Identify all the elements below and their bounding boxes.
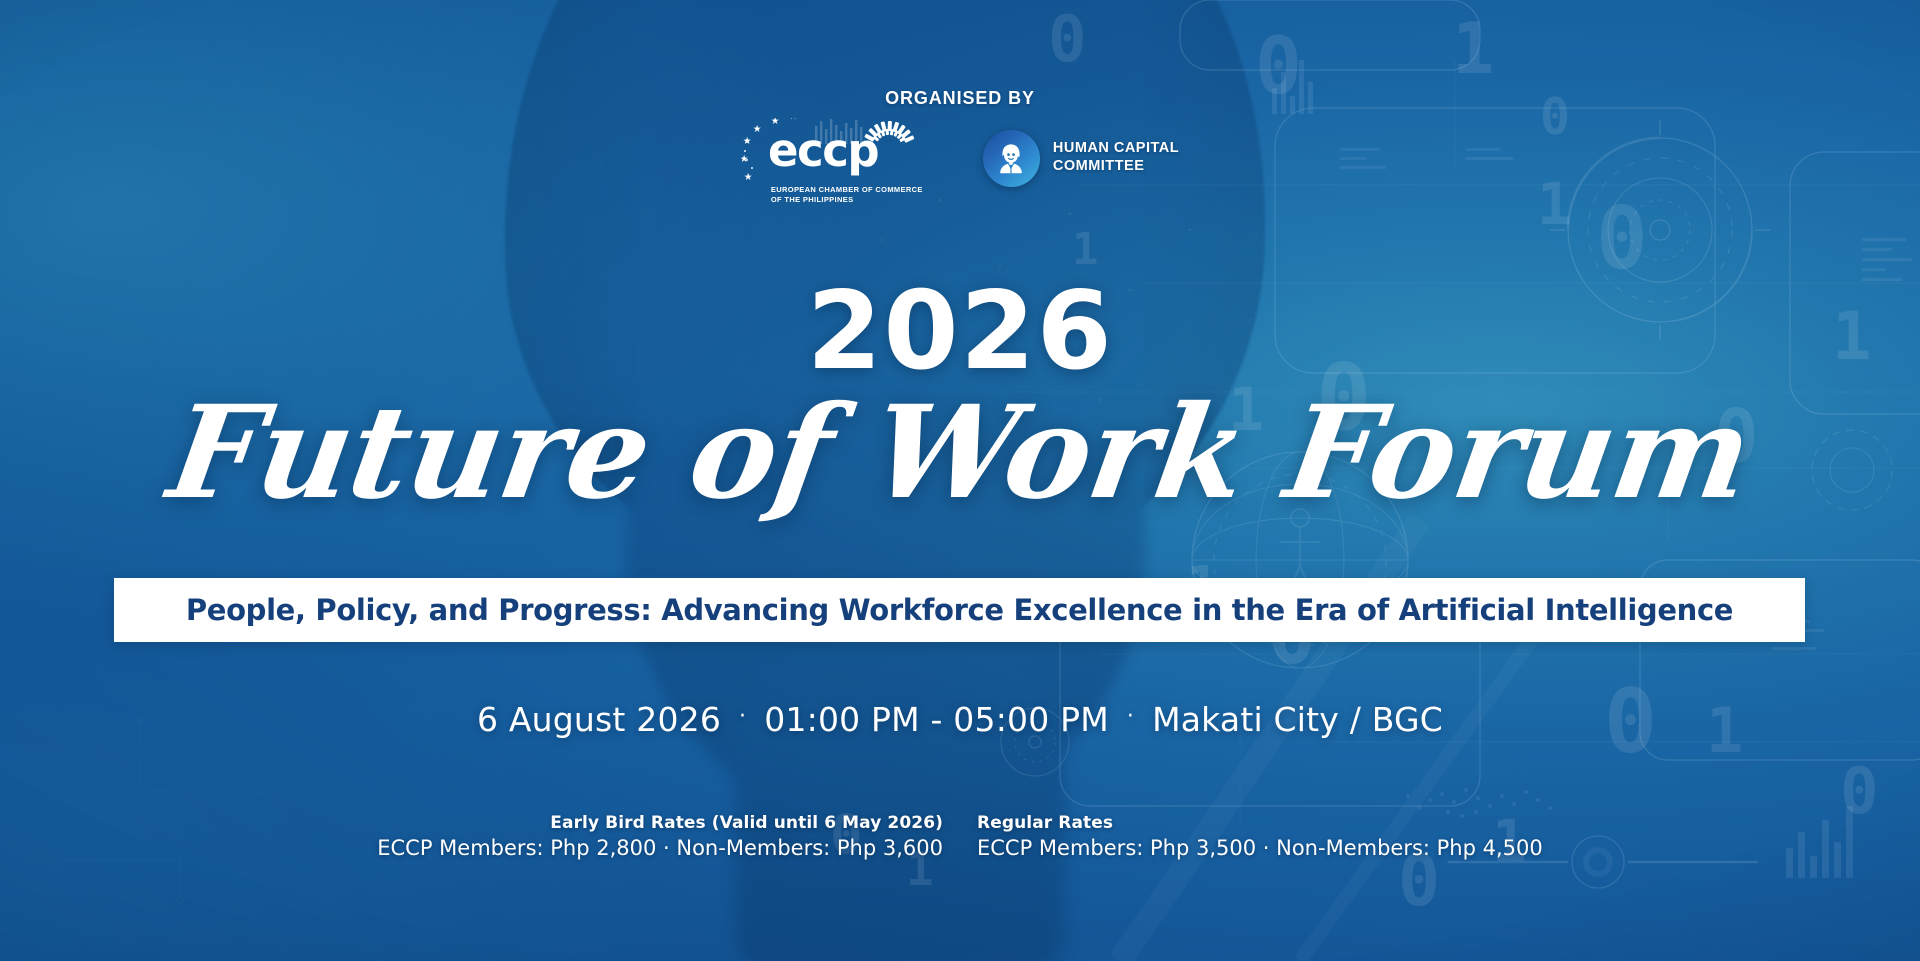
event-rates: Early Bird Rates (Valid until 6 May 2026… xyxy=(0,812,1920,862)
hcc-line2: COMMITTEE xyxy=(1053,158,1179,176)
eccp-logo: eccp EUROPEAN CHAMBER OF COMMERCE OF THE… xyxy=(741,118,937,204)
event-location: Makati City / BGC xyxy=(1152,700,1443,739)
hcc-line1: HUMAN CAPITAL xyxy=(1053,140,1179,158)
human-capital-committee-avatar-icon xyxy=(983,130,1040,187)
early-bird-rate-title: Early Bird Rates (Valid until 6 May 2026… xyxy=(365,812,943,834)
event-subtitle-text: People, Policy, and Progress: Advancing … xyxy=(186,593,1733,627)
human-capital-committee-logo: HUMAN CAPITAL COMMITTEE xyxy=(983,130,1179,187)
organised-by-label: ORGANISED BY xyxy=(0,88,1920,109)
event-time: 01:00 PM - 05:00 PM xyxy=(764,700,1109,739)
event-year: 2026 xyxy=(0,278,1920,386)
eccp-subtitle-line1: EUROPEAN CHAMBER OF COMMERCE xyxy=(771,185,937,195)
regular-rate-title: Regular Rates xyxy=(977,812,1555,834)
human-capital-committee-label: HUMAN CAPITAL COMMITTEE xyxy=(1053,140,1179,175)
eccp-logo-subtitle: EUROPEAN CHAMBER OF COMMERCE OF THE PHIL… xyxy=(741,185,937,204)
regular-rate-detail: ECCP Members: Php 3,500 · Non-Members: P… xyxy=(977,835,1555,862)
svg-text:eccp: eccp xyxy=(768,124,878,177)
early-bird-rate-detail: ECCP Members: Php 2,800 · Non-Members: P… xyxy=(365,835,943,862)
details-separator-2: · xyxy=(1109,704,1152,729)
eccp-subtitle-line2: OF THE PHILIPPINES xyxy=(771,195,937,205)
event-date: 6 August 2026 xyxy=(477,700,721,739)
organiser-logo-row: eccp EUROPEAN CHAMBER OF COMMERCE OF THE… xyxy=(0,118,1920,204)
details-separator-1: · xyxy=(721,704,764,729)
event-banner: 00101010101010101001 ORGANISED BY xyxy=(0,0,1920,961)
eccp-logo-mark-icon: eccp xyxy=(741,118,937,182)
event-details-line: 6 August 2026 · 01:00 PM - 05:00 PM · Ma… xyxy=(0,700,1920,739)
banner-content: ORGANISED BY xyxy=(0,0,1920,961)
event-subtitle-bar: People, Policy, and Progress: Advancing … xyxy=(114,578,1805,642)
early-bird-rate-block: Early Bird Rates (Valid until 6 May 2026… xyxy=(365,812,943,862)
regular-rate-block: Regular Rates ECCP Members: Php 3,500 · … xyxy=(977,812,1555,862)
event-title-script: Future of Work Forum xyxy=(0,386,1920,522)
